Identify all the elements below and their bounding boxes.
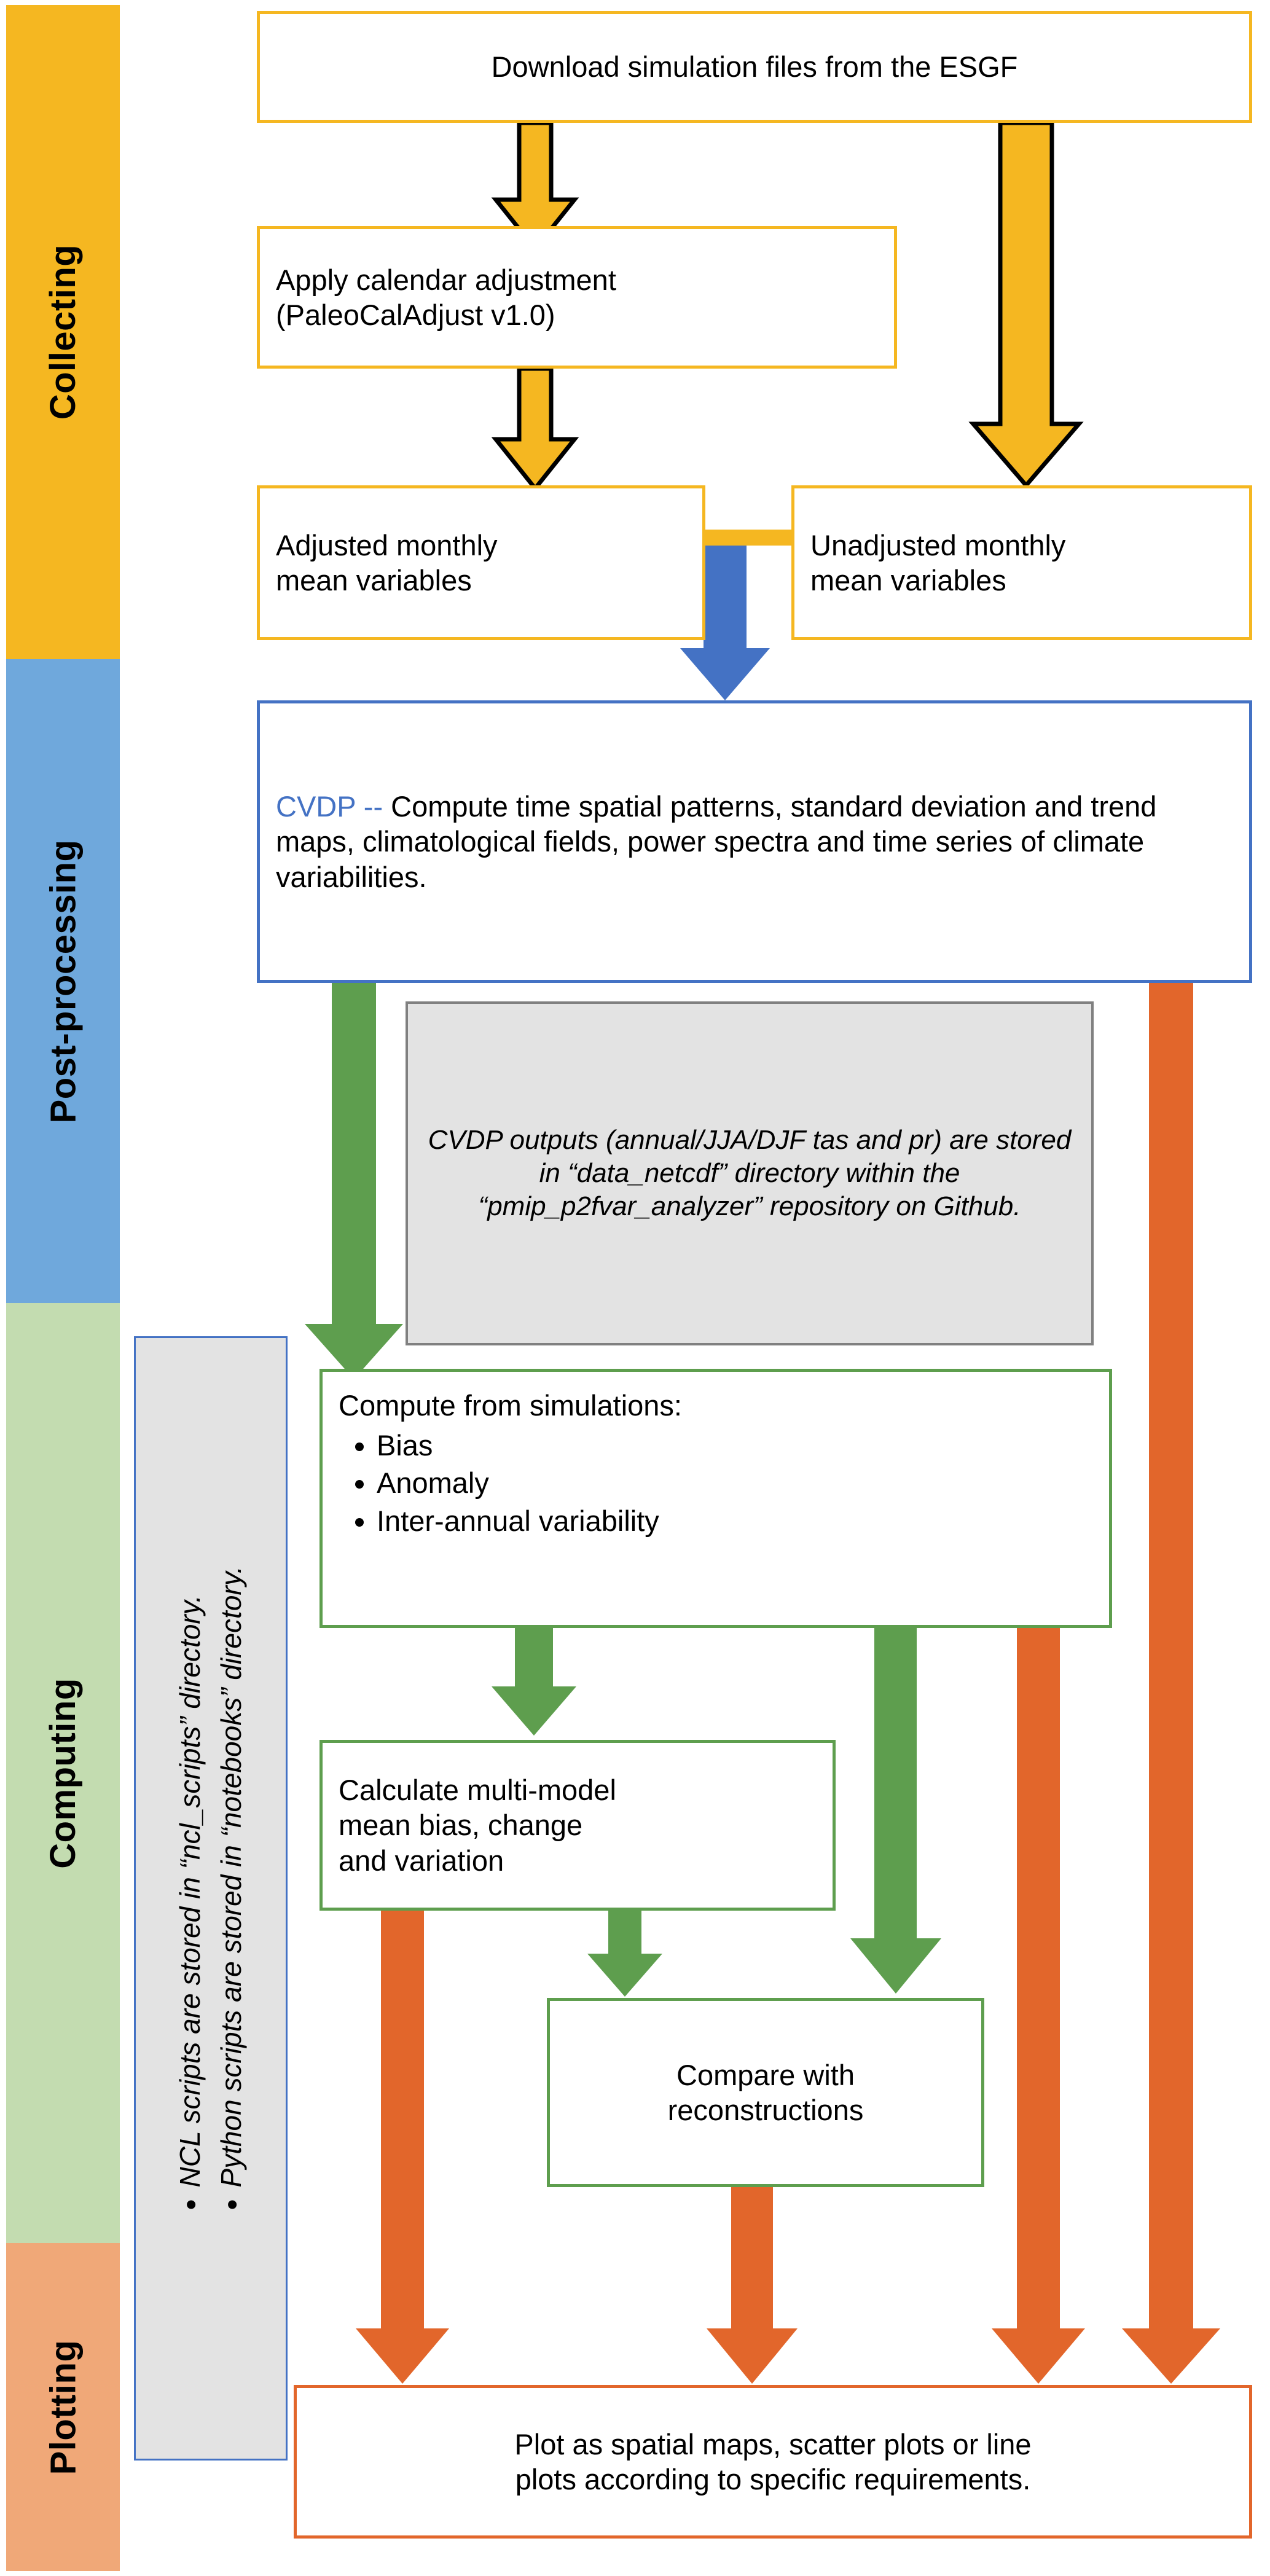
box-apply-calendar-adjustment-line1: Apply calendar adjustment [276, 262, 616, 297]
arrow-multimodel-to-compare [587, 1911, 662, 1997]
box-multimodel-line3: and variation [339, 1843, 504, 1878]
stage-label-collecting-text: Collecting [42, 245, 84, 420]
note-scripts-item-ncl: NCL scripts are stored in “ncl_scripts” … [170, 1566, 211, 2188]
box-plot-outputs[interactable]: Plot as spatial maps, scatter plots or l… [294, 2385, 1252, 2539]
box-calculate-multi-model[interactable]: Calculate multi-model mean bias, change … [319, 1740, 836, 1911]
arrow-compute-right-to-plot [992, 1628, 1085, 2384]
note-cvdp-outputs: CVDP outputs (annual/JJA/DJF tas and pr)… [406, 1001, 1094, 1345]
stage-label-collecting: Collecting [6, 5, 120, 659]
box-plot-line2: plots according to specific requirements… [515, 2462, 1031, 2497]
box-compute-from-simulations[interactable]: Compute from simulations: Bias Anomaly I… [319, 1369, 1112, 1628]
arrow-multimodel-to-plot [356, 1911, 449, 2384]
note-scripts-directories: NCL scripts are stored in “ncl_scripts” … [134, 1336, 288, 2461]
box-cvdp-rest: Compute time spatial patterns, standard … [276, 790, 1156, 893]
arrow-download-to-unadjusted [973, 123, 1079, 485]
box-unadjusted-line1: Unadjusted monthly [810, 528, 1065, 563]
note-scripts-item-python: Python scripts are stored in “notebooks”… [211, 1566, 252, 2188]
box-adjusted-line2: mean variables [276, 563, 472, 598]
connector-adjusted-unadjusted [693, 530, 804, 546]
box-plot-line1: Plot as spatial maps, scatter plots or l… [514, 2427, 1031, 2462]
box-compute-item-interannual: Inter-annual variability [377, 1502, 659, 1540]
box-compute-title: Compute from simulations: [323, 1388, 698, 1423]
box-download-simulations-text: Download simulation files from the ESGF [492, 49, 1018, 84]
box-unadjusted-monthly-mean-variables[interactable]: Unadjusted monthly mean variables [791, 485, 1252, 640]
arrow-compare-to-plot [707, 2187, 798, 2384]
stage-label-post-processing-text: Post-processing [42, 839, 84, 1123]
box-compute-item-bias: Bias [377, 1427, 659, 1464]
box-multimodel-line2: mean bias, change [339, 1807, 582, 1842]
box-apply-calendar-adjustment-line2: (PaleoCalAdjust v1.0) [276, 297, 555, 332]
box-compute-item-anomaly: Anomaly [377, 1464, 659, 1501]
flowchart-stage: Collecting Post-processing Computing Plo… [0, 0, 1270, 2576]
stage-label-post-processing: Post-processing [6, 659, 120, 1303]
box-cvdp-text: CVDP -- Compute time spatial patterns, s… [276, 789, 1233, 895]
box-cvdp-name: CVDP [276, 790, 356, 823]
arrow-compute-to-compare [850, 1628, 941, 1994]
arrow-compute-to-multimodel [492, 1628, 576, 1736]
arrow-calendar-to-adjusted [496, 369, 574, 488]
box-cvdp[interactable]: CVDP -- Compute time spatial patterns, s… [257, 700, 1252, 983]
box-compare-line2: reconstructions [668, 2093, 864, 2128]
stage-label-plotting-text: Plotting [42, 2339, 84, 2475]
box-compare-with-reconstructions[interactable]: Compare with reconstructions [547, 1998, 984, 2187]
stage-label-computing-text: Computing [42, 1678, 84, 1869]
stage-label-computing: Computing [6, 1303, 120, 2243]
box-compare-line1: Compare with [676, 2057, 855, 2093]
box-adjusted-monthly-mean-variables[interactable]: Adjusted monthly mean variables [257, 485, 705, 640]
box-cvdp-dashes: -- [356, 790, 391, 823]
box-compute-list: Bias Anomaly Inter-annual variability [323, 1427, 659, 1539]
stage-label-plotting: Plotting [6, 2243, 120, 2571]
arrow-cvdp-to-plot [1122, 983, 1220, 2384]
note-scripts-list: NCL scripts are stored in “ncl_scripts” … [170, 1566, 251, 2231]
note-scripts-rotated: NCL scripts are stored in “ncl_scripts” … [170, 1566, 251, 2231]
note-cvdp-outputs-text: CVDP outputs (annual/JJA/DJF tas and pr)… [424, 1124, 1075, 1223]
arrow-cvdp-to-compute [305, 977, 403, 1379]
box-download-simulations[interactable]: Download simulation files from the ESGF [257, 11, 1252, 123]
box-unadjusted-line2: mean variables [810, 563, 1006, 598]
box-adjusted-line1: Adjusted monthly [276, 528, 498, 563]
box-apply-calendar-adjustment[interactable]: Apply calendar adjustment (PaleoCalAdjus… [257, 226, 897, 369]
box-multimodel-line1: Calculate multi-model [339, 1772, 616, 1807]
